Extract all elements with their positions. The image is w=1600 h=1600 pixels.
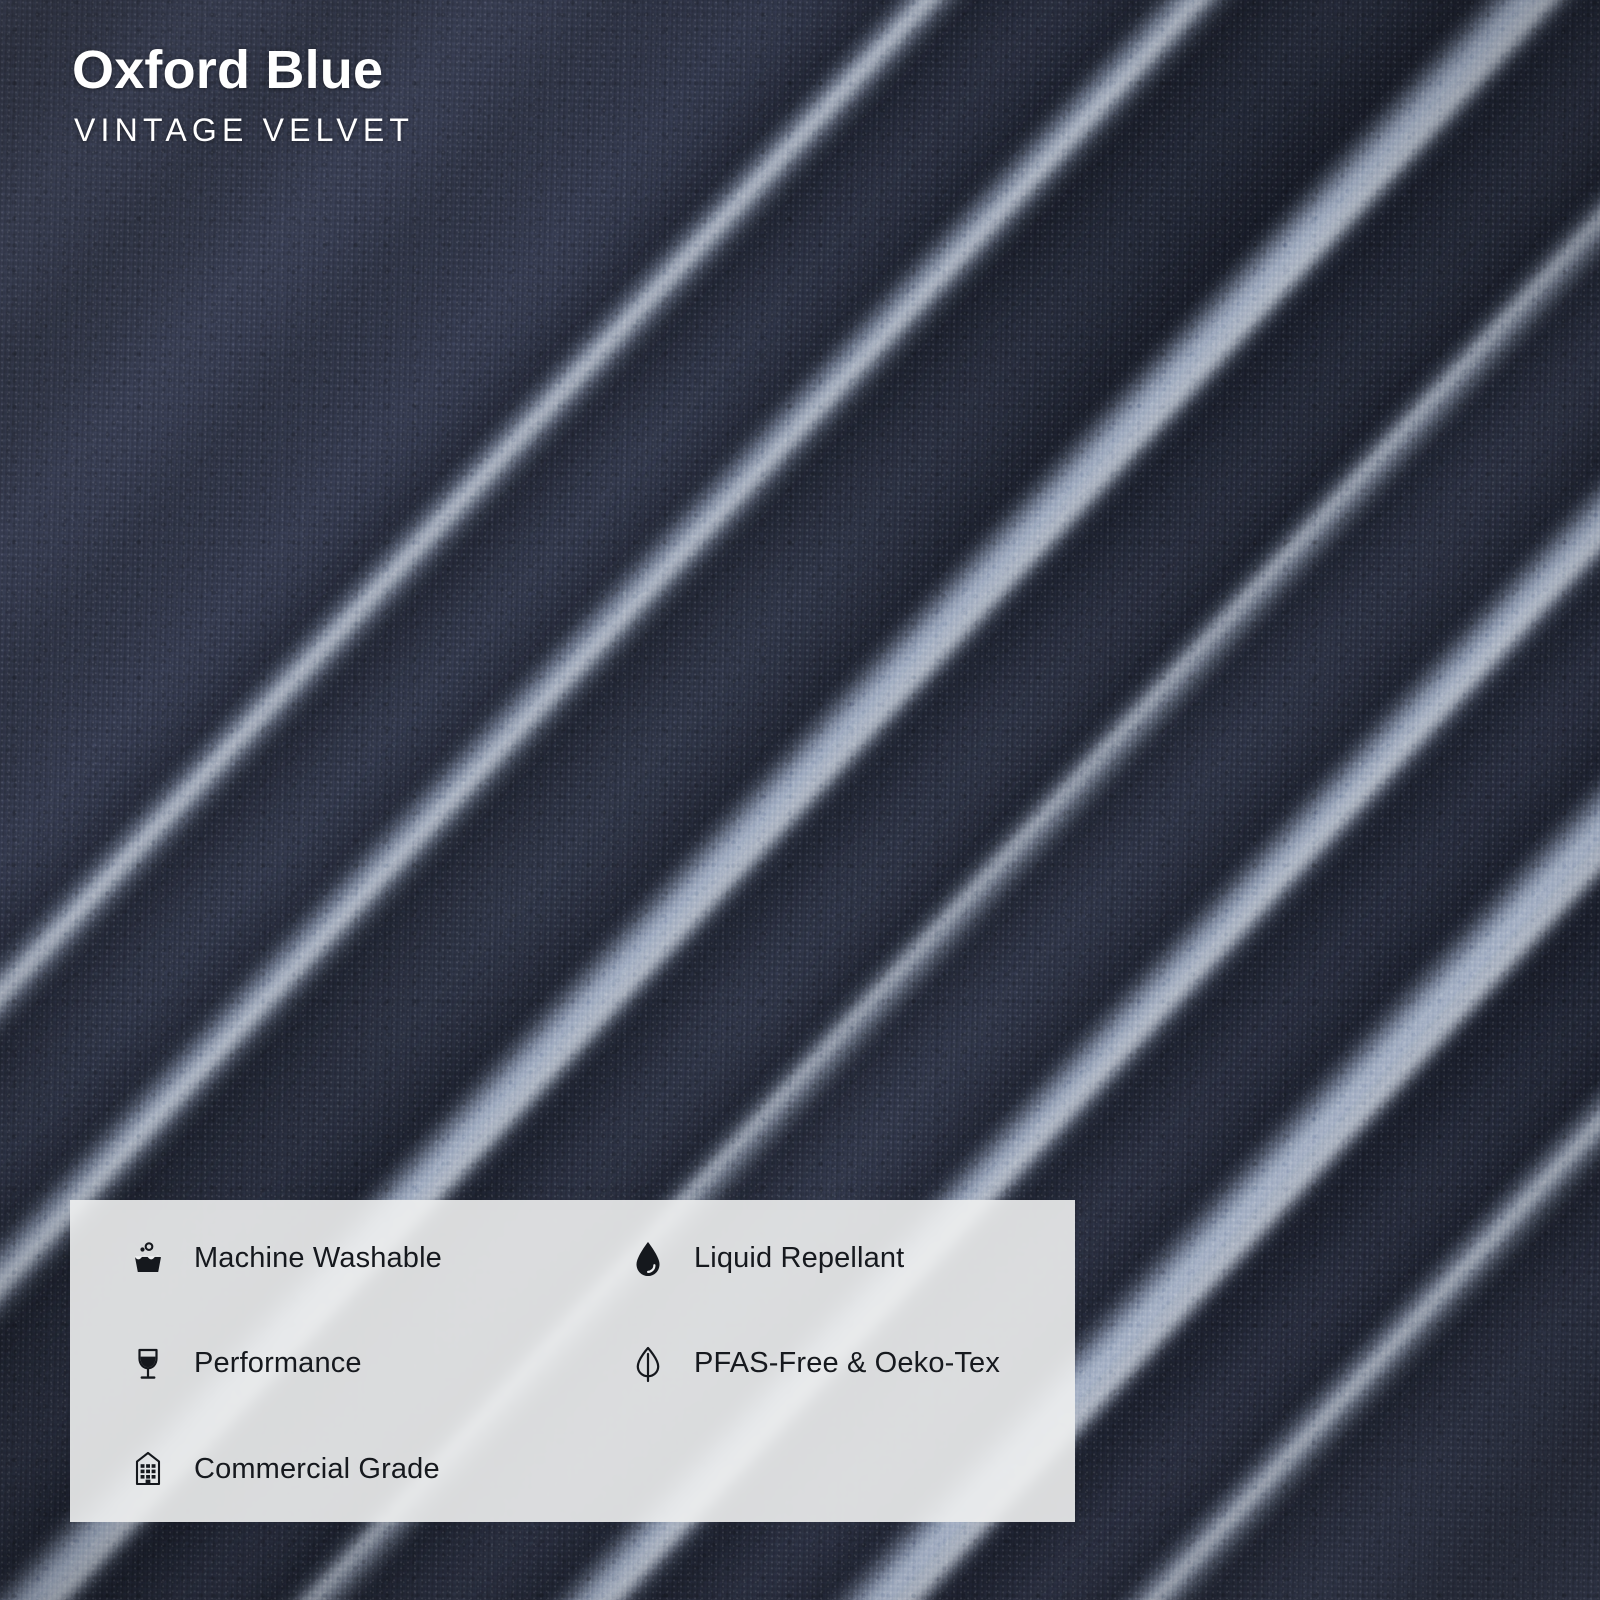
feature-item-performance: Performance xyxy=(70,1311,570,1416)
swatch-image: Oxford Blue VINTAGE VELVET Machine Washa… xyxy=(0,0,1600,1600)
washing-machine-icon xyxy=(126,1237,170,1281)
feature-label: Liquid Repellant xyxy=(694,1242,904,1275)
product-name: Oxford Blue xyxy=(72,42,414,98)
feature-panel: Machine Washable Liquid Repellant xyxy=(70,1200,1075,1522)
title-block: Oxford Blue VINTAGE VELVET xyxy=(72,42,414,146)
leaf-icon xyxy=(626,1342,670,1386)
wine-glass-icon xyxy=(126,1342,170,1386)
feature-label: Machine Washable xyxy=(194,1242,442,1275)
building-icon xyxy=(126,1447,170,1491)
feature-item-machine-washable: Machine Washable xyxy=(70,1206,570,1311)
feature-item-pfas-free-oeko-tex: PFAS-Free & Oeko-Tex xyxy=(570,1311,1075,1416)
collection-name: VINTAGE VELVET xyxy=(74,114,414,146)
feature-label: Performance xyxy=(194,1347,362,1380)
water-droplet-icon xyxy=(626,1237,670,1281)
feature-item-liquid-repellant: Liquid Repellant xyxy=(570,1206,1075,1311)
feature-item-commercial-grade: Commercial Grade xyxy=(70,1417,570,1522)
feature-label: Commercial Grade xyxy=(194,1453,440,1486)
feature-label: PFAS-Free & Oeko-Tex xyxy=(694,1347,1000,1380)
